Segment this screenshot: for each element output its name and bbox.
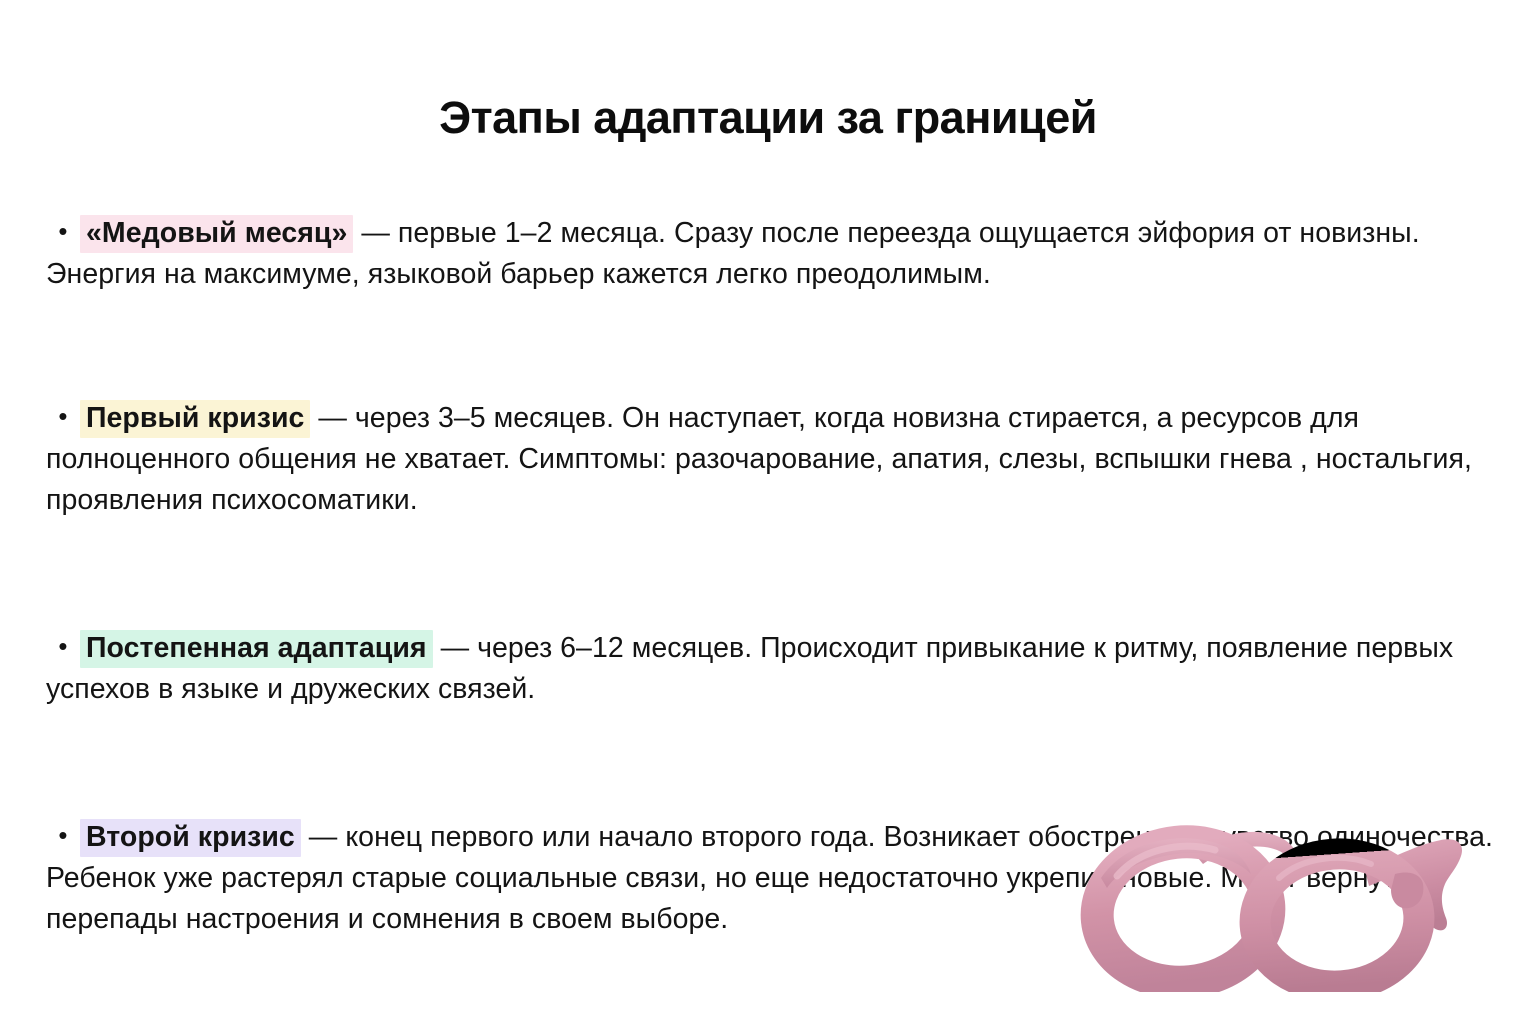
bullet-marker-icon: • <box>46 218 80 244</box>
list-item: •Постепенная адаптация — через 6–12 меся… <box>46 550 1506 710</box>
bullet-marker-icon: • <box>46 633 80 659</box>
slide-root: Этапы адаптации за границей •«Медовый ме… <box>0 0 1536 1024</box>
page-title: Этапы адаптации за границей <box>0 92 1536 144</box>
bullet-term-highlight: Постепенная адаптация <box>80 630 433 668</box>
list-item: •«Медовый месяц» — первые 1–2 месяца. Ср… <box>46 209 1506 295</box>
list-item: •Второй кризис — конец первого или начал… <box>46 738 1506 940</box>
bullet-list: •«Медовый месяц» — первые 1–2 месяца. Ср… <box>46 180 1506 940</box>
bullet-marker-icon: • <box>46 822 80 848</box>
list-item: •Первый кризис — через 3–5 месяцев. Он н… <box>46 323 1506 521</box>
bullet-term-highlight: «Медовый месяц» <box>80 215 353 253</box>
bullet-term-highlight: Второй кризис <box>80 819 301 857</box>
bullet-term-highlight: Первый кризис <box>80 400 310 438</box>
bullet-marker-icon: • <box>46 403 80 429</box>
